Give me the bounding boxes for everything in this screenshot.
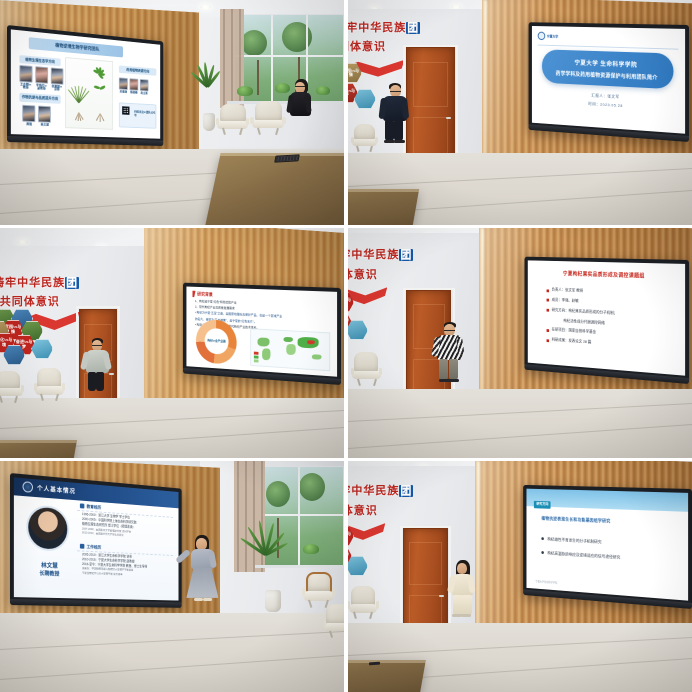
person-name: 林文慧 长聘教授 (20, 562, 79, 579)
hex-tile (31, 339, 53, 359)
bullet-marker (546, 299, 548, 302)
armchair (34, 368, 64, 401)
signage-line-2: 共同体意识 (0, 293, 60, 309)
hex-tile: 民族\n与共 (348, 526, 354, 546)
portrait-photo (27, 504, 70, 552)
slide-header-title: 个人基本情况 (37, 483, 76, 495)
shoe (203, 598, 212, 601)
bullet-marker (541, 537, 544, 540)
slide-footer: 宁夏大学生命科学学院 (535, 579, 557, 584)
armchair (348, 586, 378, 620)
signage-badge: 团 (65, 277, 79, 289)
wall-display-screen[interactable]: 研究背景 1、枸杞是宁夏“红色”特色优势产业 2、现代枸杞产业高质量发展需求 •… (183, 282, 341, 384)
slide-group-1: 植物生理生态学方向 王志刚\n教授 李艳红\n副教授 张建国\n讲师 (19, 55, 61, 93)
slide-subtitle: 植物抗逆表现生长和功能基因组学研究 (541, 516, 610, 525)
slide-tag-label: 研究方向 (534, 501, 551, 509)
signage-line-1: 铸牢中华民族团 (348, 482, 413, 498)
bullet-item: 负责人：张文军 教授 (546, 288, 671, 298)
office-chair (323, 604, 344, 638)
curtain (234, 461, 265, 572)
slide-meta: 汇报人：张文军 时间：2023.05.28 (532, 90, 685, 116)
hex-tile-group: 家园\n与情 文化\n与魂 奋进\n与梦 (0, 309, 73, 367)
slide-personal-profile: 个人基本情况 林文慧 长聘教授 教育经历 1996-2000：浙江大学 生物学 … (14, 477, 179, 600)
hex-tile-group: 家园\n与情 团结\n与兴 (348, 286, 372, 336)
slide-heading-1: 宁夏大学 生命科学学院 (574, 57, 637, 68)
presenter-person (186, 535, 220, 601)
member-card: 赵立新 (140, 79, 149, 95)
head (457, 563, 467, 574)
window-sill (255, 565, 344, 568)
slide-group-2: 药用植物资源方向 刘海涛 陈晓梅 赵立新 (119, 65, 157, 96)
section-marker-icon (81, 543, 85, 548)
bullet-marker (546, 329, 548, 332)
title-accent-icon (192, 290, 195, 297)
hex-tile-group: 民族\n与共 文化\n与魂 (348, 522, 372, 572)
bullet-list: 负责人：张文军 教授 成员：李强、赵敏 研究方向：枸杞果实品质形成的分子机制； … (546, 288, 671, 357)
potted-palm (193, 63, 219, 87)
slide-title: 宁夏枸杞果实品质形成及调控课题组 (528, 269, 685, 281)
map-legend (253, 352, 258, 364)
plant-illustration-panel (65, 57, 113, 129)
skirt (186, 568, 218, 598)
member-card: 张建国\n讲师 (50, 67, 63, 92)
section-header-work: 工作经历 (81, 543, 102, 550)
arm (304, 94, 312, 113)
downlight (200, 5, 211, 9)
presenter-person (83, 338, 113, 390)
bullet-marker (546, 309, 548, 312)
leg (96, 372, 104, 391)
signage-badge: 团 (399, 485, 413, 497)
bullet-item: 枸杞雄性不育发生的分子机制研究 (541, 536, 677, 549)
panel-2-top-right: 铸牢中华民族团 共同体意识 家园\n与情 石榴\n与籽 (348, 0, 692, 225)
floor (0, 613, 344, 692)
floor (348, 389, 692, 458)
group-heading: 药用植物资源方向 (119, 65, 157, 76)
hex-tile (348, 556, 368, 576)
bullet-item: 科研成果：发表论文 28 篇 (546, 338, 671, 351)
section-marker-icon (81, 503, 85, 508)
member-card: 陈晓梅 (129, 78, 138, 95)
presenter-person (434, 322, 466, 380)
slide-title: 研究背景 (197, 291, 212, 297)
plant-illustration-a (67, 62, 89, 123)
person-rank: 长聘教授 (20, 570, 79, 579)
leg (462, 595, 472, 615)
bullet-item: 枸杞高温胁迫响应及逆境适应的信号途径研究 (541, 550, 677, 564)
armchair (0, 371, 23, 403)
hex-tile: 家园\n与情 (348, 292, 354, 312)
slide-team-chart: 植物逆境生物学研究团队 植物生理生态学方向 王志刚\n教授 李艳红\n副教授 张… (11, 29, 161, 138)
armchair (217, 104, 249, 136)
wall-display-screen[interactable]: 宁夏大学 宁夏大学 生命科学学院 药学学科及药用植物资源保护与利用团队简介 汇报… (528, 22, 688, 142)
panel-4-middle-right: 铸牢中华民族团 共同体意识 家园\n与情 团结\n与兴 (348, 228, 692, 458)
panel-3-middle-left: 铸牢中华民族团 共同体意识 家园\n与情 文化\n与魂 奋进\n与梦 (0, 228, 344, 458)
signage-line-1: 铸牢中华民族团 (0, 274, 79, 290)
qr-code-icon (122, 106, 129, 115)
member-card: 周强 (22, 105, 35, 127)
badge-text: 扫码关注\n团队公众号 (134, 109, 155, 117)
divider (537, 44, 678, 49)
slide-bullet-list: 宁夏枸杞果实品质形成及调控课题组 负责人：张文军 教授 成员：李强、赵敏 研究方… (528, 261, 685, 376)
bullet-marker (541, 551, 544, 554)
bullet-marker (558, 320, 561, 323)
world-map (250, 328, 330, 371)
title-blob: 宁夏大学 生命科学学院 药学学科及药用植物资源保护与利用团队简介 (542, 49, 674, 89)
panel-1-top-left: 植物逆境生物学研究团队 植物生理生态学方向 王志刚\n教授 李艳红\n副教授 张… (0, 0, 344, 225)
leg (88, 372, 96, 391)
presenter-person (286, 79, 316, 124)
shoe (448, 379, 459, 382)
donut-center-label: 枸杞\n全产业链 (204, 328, 228, 355)
section-header-education: 教育经历 (81, 503, 102, 510)
downlight (17, 240, 28, 244)
slide-top-band (526, 488, 688, 512)
panel-6-bottom-right: 铸牢中华民族团 共同体意识 民族\n与共 文化\n与魂 (348, 461, 692, 692)
floor-planter (265, 590, 281, 612)
downlight (451, 5, 461, 9)
member-card: 李艳红\n副教授 (35, 66, 48, 91)
group-heading: 作物抗逆与品质提升方向 (19, 92, 61, 103)
member-card: 王志刚\n教授 (19, 64, 32, 89)
slide-title: 植物逆境生物学研究团队 (29, 37, 123, 57)
arm (208, 550, 217, 568)
signage-line-1: 铸牢中华民族团 (348, 19, 420, 35)
wall-display-screen[interactable]: 研究方向 植物抗逆表现生长和功能基因组学研究 枸杞雄性不育发生的分子机制研究 枸… (523, 485, 692, 609)
signage-badge: 团 (399, 249, 413, 261)
member-card: 杨文斌 (38, 105, 51, 126)
member-card: 刘海涛 (119, 77, 128, 94)
leg (394, 120, 403, 141)
glasses-icon (295, 86, 305, 87)
leg (385, 120, 394, 141)
slide-title-page: 宁夏大学 宁夏大学 生命科学学院 药学学科及药用植物资源保护与利用团队简介 汇报… (532, 26, 685, 134)
potted-plant (303, 544, 319, 554)
glasses-icon (92, 345, 102, 346)
potted-plant (237, 86, 253, 96)
arm (401, 98, 409, 120)
conference-table (206, 153, 344, 225)
glasses-icon (390, 91, 401, 92)
slide-heading-2: 药学学科及药用植物资源保护与利用团队简介 (555, 69, 657, 81)
slide-research-directions: 研究方向 植物抗逆表现生长和功能基因组学研究 枸杞雄性不育发生的分子机制研究 枸… (526, 488, 688, 600)
logo-mark-icon (537, 32, 545, 41)
bullet-list: 枸杞雄性不育发生的分子机制研究 枸杞高温胁迫响应及逆境适应的信号途径研究 (541, 536, 677, 573)
wall-display-screen[interactable]: 宁夏枸杞果实品质形成及调控课题组 负责人：张文军 教授 成员：李强、赵敏 研究方… (524, 257, 688, 385)
wall-display-screen[interactable]: 个人基本情况 林文慧 长聘教授 教育经历 1996-2000：浙江大学 生物学 … (10, 473, 182, 608)
wall-display-screen[interactable]: 植物逆境生物学研究团队 植物生理生态学方向 王志刚\n教授 李艳红\n副教授 张… (7, 25, 164, 146)
office-chair (303, 572, 335, 608)
leg (439, 359, 448, 380)
hex-tile: 家园\n与情 (348, 63, 362, 83)
signage-line-2: 共同体意识 (348, 502, 378, 518)
conference-table (348, 189, 420, 225)
leg (449, 359, 458, 380)
logo-text: 宁夏大学 (546, 34, 557, 39)
slide-research-background: 研究背景 1、枸杞是宁夏“红色”特色优势产业 2、现代枸杞产业高质量发展需求 •… (186, 286, 337, 376)
armchair (251, 101, 285, 135)
bullet-item: 成员：李强、赵敏 (546, 298, 671, 308)
slide-title-row: 研究背景 (192, 290, 213, 297)
floor-planter (203, 113, 215, 131)
presenter-person (448, 560, 478, 616)
shoe (194, 598, 203, 601)
bullet-marker (546, 289, 548, 292)
conference-table (0, 440, 78, 458)
slide-group-3: 作物抗逆与品质提升方向 周强 杨文斌 (19, 92, 61, 129)
signage-line-1: 铸牢中华民族团 (348, 246, 413, 262)
photo-collage: 植物逆境生物学研究团队 植物生理生态学方向 王志刚\n教授 李艳红\n副教授 张… (0, 0, 692, 692)
signage-line-2: 共同体意识 (348, 38, 386, 54)
slide-body: 林文慧 长聘教授 教育经历 1996-2000：浙江大学 生物学 学士学位 20… (14, 495, 179, 600)
conference-table (348, 660, 427, 692)
qr-badge: 扫码关注\n团队公众号 (119, 102, 157, 129)
university-emblem-icon (23, 481, 33, 493)
shoe (394, 140, 405, 143)
presenter-person (379, 83, 411, 141)
university-logo: 宁夏大学 (537, 32, 558, 41)
bullet-marker (546, 339, 548, 342)
shoe (461, 614, 471, 617)
armchair (351, 352, 381, 386)
signage-line-2: 共同体意识 (348, 266, 378, 282)
hex-tile (348, 320, 368, 340)
potted-plant (316, 86, 330, 95)
signage-badge: 团 (406, 22, 420, 34)
glasses-icon (444, 330, 455, 331)
plant-illustration-b (90, 67, 111, 124)
panel-5-bottom-left: 个人基本情况 林文慧 长聘教授 教育经历 1996-2000：浙江大学 生物学 … (0, 461, 344, 692)
armchair (351, 124, 377, 152)
potted-palm (248, 521, 280, 555)
work-rows: 2005-2010：浙江大学生命科学学院 讲师 2010-2016：宁夏大学生命… (82, 552, 174, 578)
